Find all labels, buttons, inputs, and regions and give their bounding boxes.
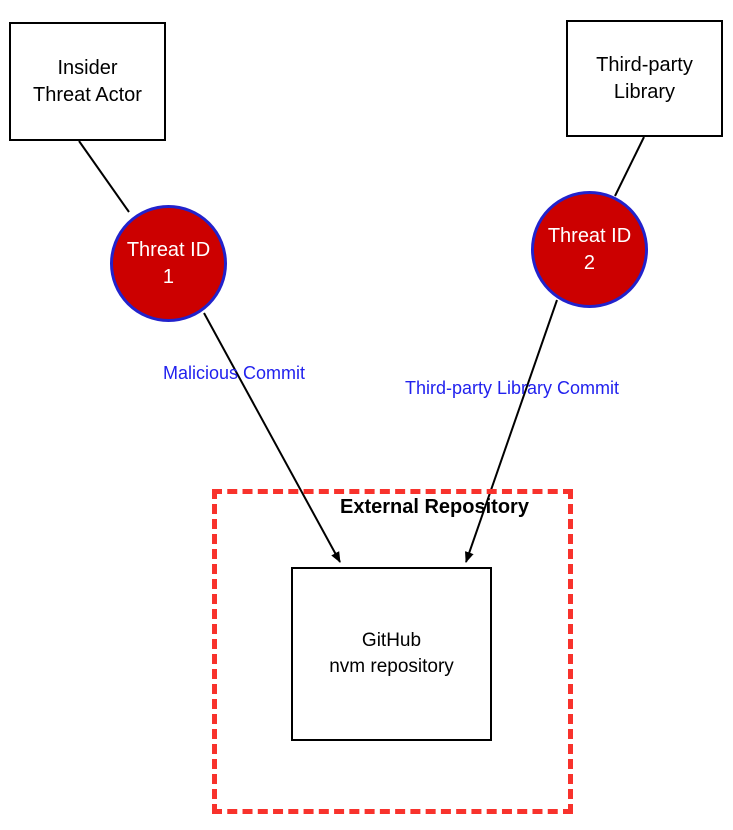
threat-diagram-canvas: External Repository Insider Threat Actor… — [0, 0, 733, 830]
node-github-nvm-repository[interactable]: GitHub nvm repository — [291, 567, 492, 741]
boundary-external-repository-label: External Repository — [340, 496, 529, 519]
node-threat-id-1[interactable]: Threat ID 1 — [110, 205, 227, 322]
edge-label-malicious-commit: Malicious Commit — [163, 363, 305, 384]
edge-insider-to-threat1 — [79, 141, 129, 212]
edge-label-third-party-library-commit: Third-party Library Commit — [405, 378, 619, 399]
node-third-party-library[interactable]: Third-party Library — [566, 20, 723, 137]
node-threat-id-2[interactable]: Threat ID 2 — [531, 191, 648, 308]
node-insider-threat-actor[interactable]: Insider Threat Actor — [9, 22, 166, 141]
edge-library-to-threat2 — [615, 137, 644, 196]
